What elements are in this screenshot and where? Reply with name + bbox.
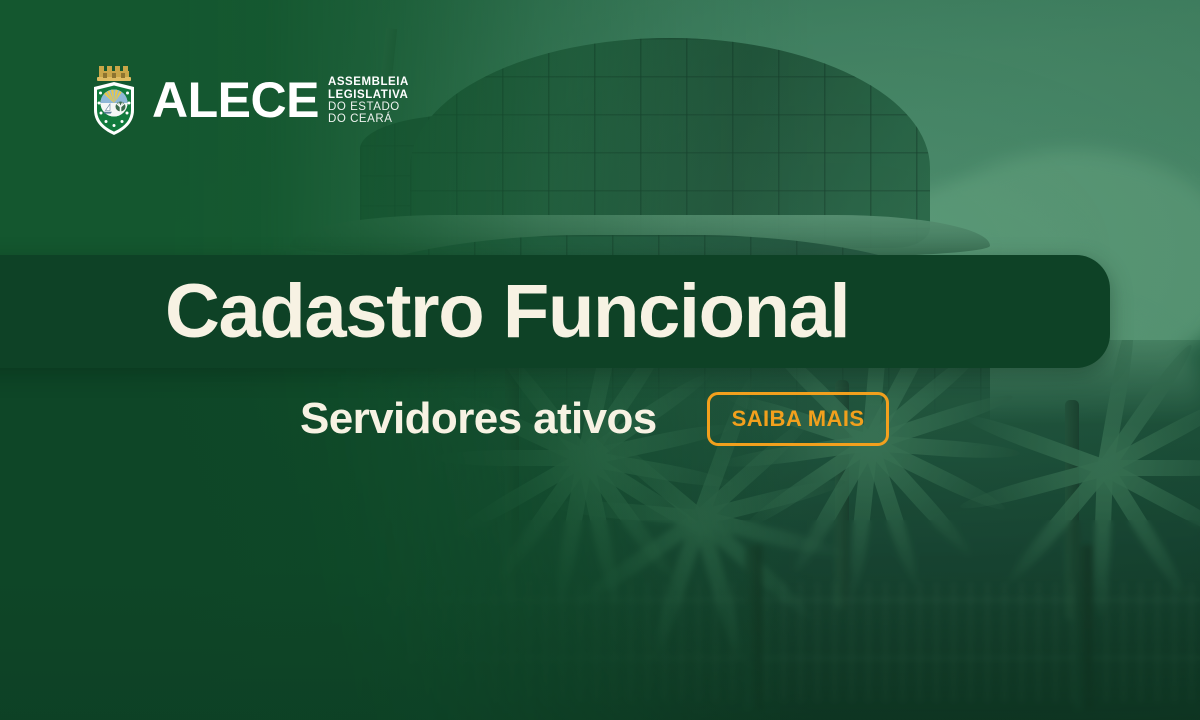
institution-line-3: DO ESTADO (328, 101, 409, 113)
title-band: Cadastro Funcional (0, 255, 1110, 368)
institution-line-2: LEGISLATIVA (328, 89, 409, 101)
saiba-mais-button[interactable]: SAIBA MAIS (707, 392, 890, 446)
page-subtitle: Servidores ativos (300, 397, 657, 441)
ceara-coat-of-arms-icon (88, 62, 140, 138)
institution-line-4: DO CEARÁ (328, 113, 409, 125)
alece-wordmark: ALECE ASSEMBLEIA LEGISLATIVA DO ESTADO D… (152, 74, 409, 126)
page-title: Cadastro Funcional (165, 274, 849, 350)
alece-logo[interactable]: ALECE ASSEMBLEIA LEGISLATIVA DO ESTADO D… (88, 62, 409, 138)
bottom-fade (0, 570, 1200, 720)
institution-line-1: ASSEMBLEIA (328, 76, 409, 88)
alece-acronym: ALECE (152, 75, 319, 125)
subtitle-row: Servidores ativos SAIBA MAIS (300, 392, 889, 446)
promo-banner: ALECE ASSEMBLEIA LEGISLATIVA DO ESTADO D… (0, 0, 1200, 720)
institution-name: ASSEMBLEIA LEGISLATIVA DO ESTADO DO CEAR… (328, 74, 409, 126)
